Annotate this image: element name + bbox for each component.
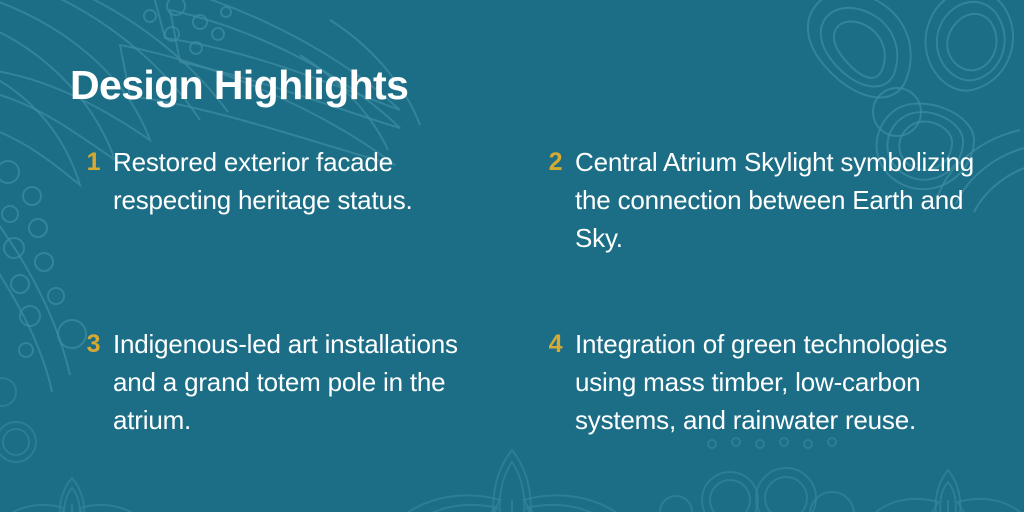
list-item-number: 3 [70,325,100,363]
highlights-list: 1 Restored exterior facade respecting he… [0,143,1024,447]
list-item-text: Central Atrium Skylight symbolizing the … [575,143,1002,257]
list-item-number: 4 [532,325,562,363]
page-title: Design Highlights [70,63,408,108]
slide-canvas: Design Highlights 1 Restored exterior fa… [0,0,1024,512]
list-item-number: 1 [70,143,100,181]
list-item-text: Restored exterior facade respecting heri… [113,143,502,219]
row-spacer-left [70,265,502,325]
list-item: 1 Restored exterior facade respecting he… [70,143,502,257]
list-item-text: Integration of green technologies using … [575,325,1002,439]
list-item-text: Indigenous-led art installations and a g… [113,325,502,439]
row-spacer-right [532,265,1002,287]
slide-content: Design Highlights 1 Restored exterior fa… [0,0,1024,512]
list-item: 4 Integration of green technologies usin… [532,325,1002,439]
list-item-number: 2 [532,143,562,181]
list-item: 2 Central Atrium Skylight symbolizing th… [532,143,1002,257]
list-item: 3 Indigenous-led art installations and a… [70,325,502,439]
